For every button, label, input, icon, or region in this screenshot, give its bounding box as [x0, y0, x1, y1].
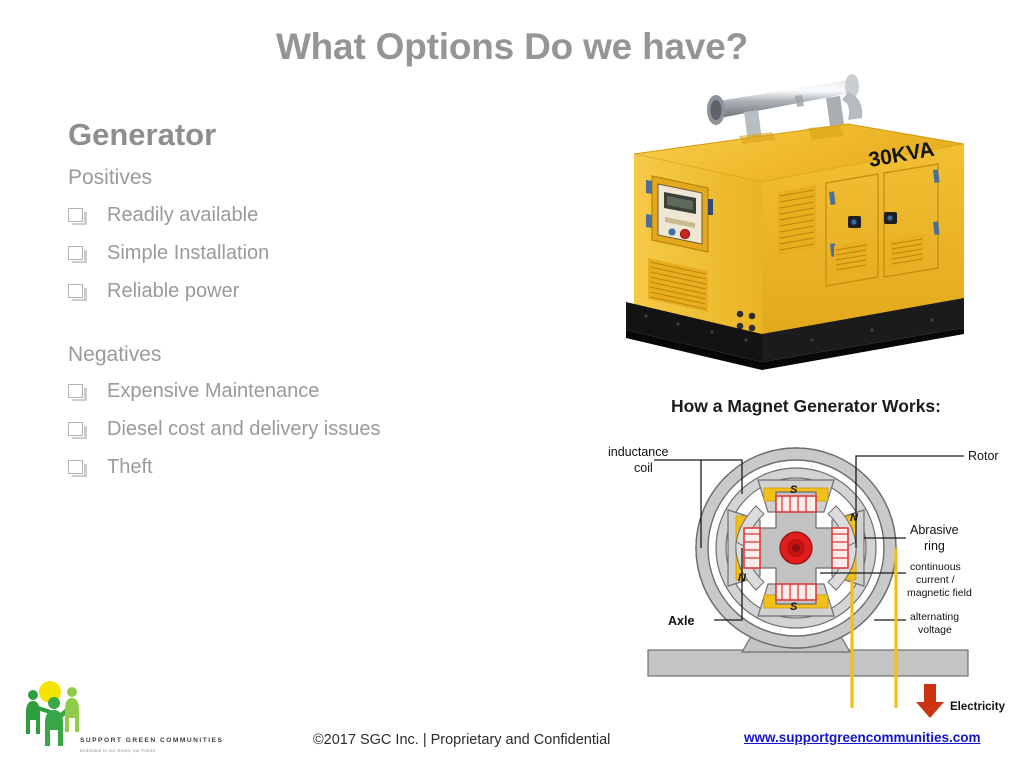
electricity-arrow-icon [916, 684, 944, 718]
checkbox-icon [68, 422, 83, 436]
label-abrasive-ring-line2: ring [924, 539, 945, 553]
list-item: Reliable power [68, 272, 588, 310]
checkbox-icon [68, 284, 83, 298]
label-alternating-line2: voltage [918, 624, 952, 636]
content-left-column: Generator Positives Readily available Si… [68, 118, 588, 486]
rotor-assembly [736, 492, 856, 604]
label-inductance-coil-line2: coil [634, 461, 653, 475]
list-item: Simple Installation [68, 234, 588, 272]
positives-label: Positives [68, 163, 588, 193]
label-alternating-line1: alternating [910, 611, 959, 623]
label-abrasive-ring-line1: Abrasive [910, 523, 959, 537]
section-spacer [68, 310, 588, 340]
company-logo: SUPPORT GREEN COMMUNITIES Dedicated to o… [18, 676, 198, 758]
panel-handle[interactable] [708, 199, 713, 215]
base-plate [648, 650, 968, 676]
label-continuous-line3: magnetic field [907, 587, 972, 599]
list-item: Readily available [68, 196, 588, 234]
list-item-label: Reliable power [107, 272, 239, 310]
presentation-slide: What Options Do we have? Generator Posit… [0, 0, 1024, 768]
list-item-label: Expensive Maintenance [107, 372, 319, 410]
generator-photo: 30KVA [612, 62, 972, 382]
checkbox-icon [68, 384, 83, 398]
side-vent-louvers [778, 185, 816, 255]
magnet-generator-diagram: S S N N indu [606, 388, 1006, 718]
logo-mark-icon [18, 676, 198, 758]
label-continuous-line2: current / [916, 574, 955, 586]
panel-blue-button[interactable] [668, 228, 675, 235]
pole-marker-top: S [790, 484, 798, 496]
negatives-list: Expensive Maintenance Diesel cost and de… [68, 372, 588, 486]
positives-list: Readily available Simple Installation Re… [68, 196, 588, 310]
label-electricity: Electricity [950, 701, 1006, 713]
checkbox-icon [68, 460, 83, 474]
label-rotor: Rotor [968, 449, 999, 463]
logo-tagline: Dedicated to our Green, our Future [80, 748, 155, 753]
list-item-label: Readily available [107, 196, 258, 234]
emergency-stop-button[interactable] [680, 229, 689, 238]
list-item: Diesel cost and delivery issues [68, 410, 588, 448]
list-item: Theft [68, 448, 588, 486]
label-inductance-coil-line1: inductance [608, 445, 669, 459]
label-continuous-line1: continuous [910, 561, 961, 573]
negatives-label: Negatives [68, 340, 588, 370]
logo-company-name: SUPPORT GREEN COMMUNITIES [80, 737, 223, 744]
list-item-label: Diesel cost and delivery issues [107, 410, 380, 448]
list-item-label: Theft [107, 448, 153, 486]
list-item: Expensive Maintenance [68, 372, 588, 410]
footer-copyright: ©2017 SGC Inc. | Proprietary and Confide… [313, 732, 610, 748]
label-axle: Axle [668, 614, 694, 628]
checkbox-icon [68, 208, 83, 222]
control-panel [646, 176, 713, 252]
checkbox-icon [68, 246, 83, 260]
section-heading: Generator [68, 118, 588, 152]
pole-marker-right: N [850, 512, 859, 524]
list-item-label: Simple Installation [107, 234, 269, 272]
figure-right [65, 687, 79, 732]
footer-website-link[interactable]: www.supportgreencommunities.com [744, 730, 981, 745]
pole-marker-bottom: S [790, 601, 798, 613]
